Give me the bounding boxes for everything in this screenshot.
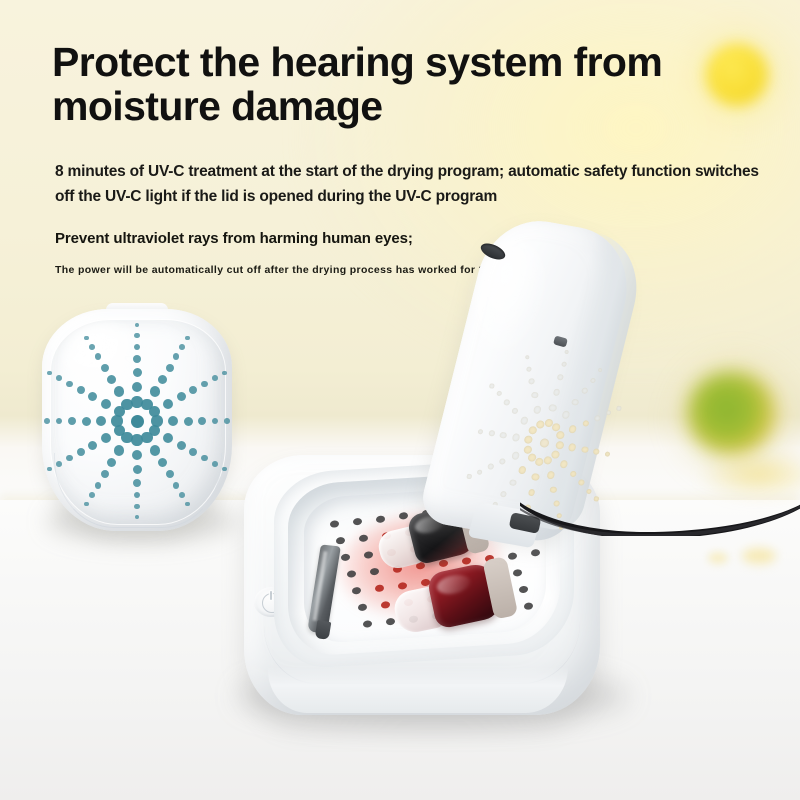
starburst-dot — [56, 375, 62, 381]
open-lid-starburst-dot — [569, 470, 577, 478]
tray-hole — [513, 569, 522, 577]
starburst-dot — [88, 392, 97, 401]
starburst-dot — [88, 441, 97, 450]
open-lid-starburst-dot — [528, 378, 535, 385]
open-lid-starburst-dot — [582, 420, 590, 428]
open-lid-starburst-dot — [509, 479, 517, 487]
open-lid-starburst-dot — [496, 391, 502, 397]
unit-base-foot — [268, 667, 568, 713]
product-marketing-image: Protect the hearing system from moisture… — [0, 0, 800, 800]
open-lid-starburst-dot — [498, 458, 506, 466]
tray-hole — [386, 618, 395, 626]
starburst-dot — [133, 465, 142, 474]
starburst-dot — [189, 448, 197, 456]
starburst-dot — [56, 461, 62, 467]
starburst-dot — [201, 381, 208, 388]
open-lid-starburst-center — [539, 437, 550, 447]
starburst-dot — [82, 417, 91, 426]
open-lid-starburst-dot — [526, 366, 532, 372]
open-lid-starburst-dot — [568, 425, 577, 433]
open-lid-starburst-dot — [598, 368, 603, 373]
starburst-dot — [177, 392, 186, 401]
tray-hole — [462, 557, 471, 565]
starburst-dot — [44, 418, 50, 424]
starburst-dot — [66, 455, 73, 462]
open-lid-starburst-dot — [578, 480, 585, 487]
starburst-dot — [163, 399, 174, 410]
starburst-dot — [134, 492, 141, 499]
detached-lid — [40, 303, 236, 535]
tray-hole — [358, 604, 367, 612]
starburst-dot — [173, 353, 180, 360]
open-lid-starburst-dot — [488, 430, 495, 437]
starburst-dot — [173, 482, 180, 489]
starburst-pattern-icon — [40, 303, 236, 535]
open-lid-starburst-dot — [594, 415, 601, 422]
open-lid-starburst-dot — [467, 474, 472, 479]
starburst-dot — [77, 386, 85, 394]
starburst-dot — [95, 482, 102, 489]
starburst-dot — [179, 492, 185, 498]
bokeh-reflection-dot-b — [708, 552, 728, 564]
starburst-dot — [189, 386, 197, 394]
starburst-dot — [212, 375, 218, 381]
starburst-dot — [84, 336, 89, 341]
starburst-dot — [101, 470, 109, 478]
starburst-dot — [95, 353, 102, 360]
open-lid-starburst-dot — [531, 473, 540, 481]
starburst-dot — [198, 417, 206, 425]
starburst-center-dot — [131, 415, 144, 428]
tray-hole — [352, 587, 361, 595]
starburst-dot — [101, 399, 112, 410]
starburst-dot — [134, 504, 140, 510]
tray-hole — [375, 584, 384, 592]
open-lid-starburst-dot — [581, 388, 588, 395]
starburst-dot — [185, 502, 190, 507]
starburst-dot — [132, 382, 143, 393]
starburst-dot — [107, 458, 116, 467]
tray-hole — [341, 554, 350, 562]
starburst-dot — [158, 375, 167, 384]
open-lid-starburst-dot — [586, 488, 592, 494]
starburst-dot — [89, 344, 95, 350]
starburst-dot — [68, 417, 76, 425]
open-lid-starburst-dot — [561, 411, 570, 419]
tray-hole — [353, 518, 362, 526]
open-lid-starburst-dot — [550, 486, 558, 494]
open-lid-starburst-dot — [511, 433, 520, 441]
open-lid-starburst-dot — [561, 361, 567, 367]
starburst-dot — [222, 467, 227, 472]
open-lid-starburst-dot — [487, 464, 494, 471]
starburst-dot — [184, 417, 193, 426]
page-title: Protect the hearing system from moisture… — [52, 40, 712, 128]
tray-hole — [359, 534, 368, 542]
open-lid-starburst-dot — [499, 431, 507, 439]
starburst-dot — [163, 433, 174, 444]
open-lid-starburst-dot — [476, 469, 482, 475]
tray-hole — [370, 568, 379, 576]
dryer-unit — [228, 215, 648, 745]
feature-description-primary: 8 minutes of UV-C treatment at the start… — [55, 159, 765, 209]
starburst-dot — [134, 333, 140, 339]
tray-hole — [347, 570, 356, 578]
open-lid-starburst-dot — [557, 374, 564, 381]
open-lid-starburst-dot — [524, 355, 529, 360]
starburst-dot — [150, 445, 161, 456]
open-lid-starburst-dot — [593, 448, 600, 455]
open-lid-starburst-dot — [511, 407, 519, 415]
power-cable-highlight — [520, 496, 800, 536]
starburst-dot — [66, 381, 73, 388]
open-lid-starburst-dot — [590, 377, 596, 383]
starburst-dot — [135, 515, 140, 520]
open-lid-starburst-dot — [518, 466, 527, 474]
starburst-dot — [135, 323, 140, 328]
open-lid-starburst-dot — [581, 446, 589, 454]
starburst-dot — [212, 461, 218, 467]
open-lid-starburst-dot — [553, 388, 561, 396]
starburst-dot — [158, 458, 167, 467]
open-lid-starburst-dot — [500, 491, 507, 498]
starburst-dot — [132, 450, 143, 461]
tray-hole — [336, 537, 345, 545]
open-lid-starburst-dot — [555, 431, 565, 440]
starburst-dot — [166, 470, 174, 478]
starburst-dot — [89, 492, 95, 498]
starburst-dot — [222, 371, 227, 376]
tray-hole — [381, 601, 390, 609]
starburst-dot — [131, 434, 143, 446]
starburst-dot — [84, 502, 89, 507]
starburst-dot — [150, 386, 161, 397]
open-lid-starburst-dot — [531, 391, 539, 399]
starburst-dot — [168, 416, 179, 427]
starburst-dot — [96, 416, 107, 427]
tray-hole — [376, 515, 385, 523]
open-lid-starburst-dot — [564, 349, 569, 354]
tray-hole — [439, 560, 448, 568]
starburst-dot — [56, 418, 63, 425]
open-lid-starburst-dot — [478, 428, 484, 434]
starburst-dot — [114, 445, 125, 456]
starburst-dot — [114, 386, 125, 397]
open-lid-starburst-dot — [555, 441, 565, 450]
starburst-dot — [133, 368, 142, 377]
open-lid-starburst-dot — [571, 399, 579, 407]
starburst-dot — [101, 433, 112, 444]
starburst-dot — [47, 467, 52, 472]
open-lid-starburst-dot — [520, 417, 529, 425]
tray-hole — [524, 602, 533, 610]
starburst-dot — [133, 479, 141, 487]
open-lid-starburst-dot — [503, 399, 510, 406]
tray-hole — [398, 582, 407, 590]
open-lid-starburst-dot — [536, 420, 546, 429]
starburst-dot — [107, 375, 116, 384]
starburst-dot — [101, 364, 109, 372]
starburst-dot — [121, 399, 133, 411]
starburst-dot — [212, 418, 219, 425]
tray-hole — [363, 620, 372, 628]
open-lid-starburst-dot — [548, 404, 557, 412]
open-lid-starburst-dot — [560, 460, 569, 468]
open-lid-starburst-dot — [533, 406, 542, 414]
open-lid-starburst-dot — [524, 435, 534, 444]
open-lid-starburst-dot — [616, 406, 621, 411]
tray-hole — [364, 551, 373, 559]
starburst-dot — [133, 355, 141, 363]
open-lid-starburst-dot — [543, 456, 553, 465]
starburst-dot — [134, 344, 141, 351]
starburst-dot — [185, 336, 190, 341]
starburst-dot — [166, 364, 174, 372]
bokeh-lemon-icon — [706, 44, 768, 106]
starburst-dot — [77, 448, 85, 456]
open-lid-starburst-dot — [568, 443, 577, 451]
open-lid-starburst-dot — [546, 471, 555, 479]
open-lid-starburst-dot — [489, 384, 494, 389]
tray-hole — [399, 512, 408, 520]
starburst-dot — [177, 441, 186, 450]
bokeh-reflection-dot-a — [742, 548, 776, 564]
starburst-dot — [47, 371, 52, 376]
starburst-dot — [111, 415, 123, 427]
open-lid-starburst-dot — [511, 451, 520, 459]
starburst-dot — [201, 455, 208, 462]
starburst-dot — [141, 432, 153, 444]
power-cable — [520, 496, 800, 536]
tray-hole — [330, 520, 339, 528]
open-lid-starburst-dot — [606, 410, 612, 416]
tray-hole — [519, 585, 528, 593]
bokeh-green-fruit-icon — [688, 372, 774, 454]
open-lid-starburst-dot — [604, 451, 610, 457]
starburst-dot — [179, 344, 185, 350]
